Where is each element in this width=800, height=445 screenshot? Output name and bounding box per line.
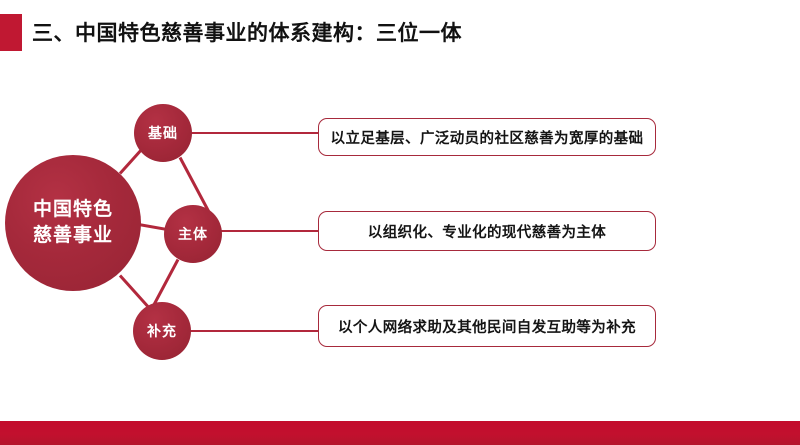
text-box-supplement-label: 以个人网络求助及其他民间自发互助等为补充 <box>338 316 636 337</box>
node-circle-foundation-label: 基础 <box>148 123 178 143</box>
slide-canvas: 三、中国特色慈善事业的体系建构：三位一体 中国特色 慈善事业 基础 主体 补充 <box>0 0 800 445</box>
text-box-supplement[interactable]: 以个人网络求助及其他民间自发互助等为补充 <box>318 305 656 347</box>
node-circle-main-body[interactable]: 主体 <box>164 205 222 263</box>
node-circle-supplement-label: 补充 <box>147 321 177 341</box>
connector-node-1-to-box-1 <box>190 132 320 134</box>
text-box-foundation[interactable]: 以立足基层、广泛动员的社区慈善为宽厚的基础 <box>318 118 656 156</box>
slide-title-row: 三、中国特色慈善事业的体系建构：三位一体 <box>0 13 800 53</box>
connector-core-to-node-3 <box>119 274 151 309</box>
text-box-main-body-label: 以组织化、专业化的现代慈善为主体 <box>368 221 606 242</box>
connector-node-3-to-box-3 <box>189 330 320 332</box>
text-box-main-body[interactable]: 以组织化、专业化的现代慈善为主体 <box>318 211 656 251</box>
node-circle-main-body-label: 主体 <box>178 224 208 244</box>
core-circle-line-2: 慈善事业 <box>33 223 113 249</box>
core-circle[interactable]: 中国特色 慈善事业 <box>5 155 141 291</box>
diagram-area: 中国特色 慈善事业 基础 主体 补充 以立足基层、广泛动员的社区慈善为宽厚的基础… <box>0 60 800 405</box>
title-accent-bar <box>0 14 22 51</box>
text-box-foundation-label: 以立足基层、广泛动员的社区慈善为宽厚的基础 <box>331 127 644 148</box>
core-circle-line-1: 中国特色 <box>33 197 113 223</box>
node-circle-supplement[interactable]: 补充 <box>133 302 191 360</box>
connector-node-2-to-box-2 <box>220 230 320 232</box>
node-circle-foundation[interactable]: 基础 <box>134 104 192 162</box>
page-title: 三、中国特色慈善事业的体系建构：三位一体 <box>32 13 462 53</box>
bottom-accent-bar <box>0 421 800 445</box>
core-circle-text: 中国特色 慈善事业 <box>33 197 113 248</box>
